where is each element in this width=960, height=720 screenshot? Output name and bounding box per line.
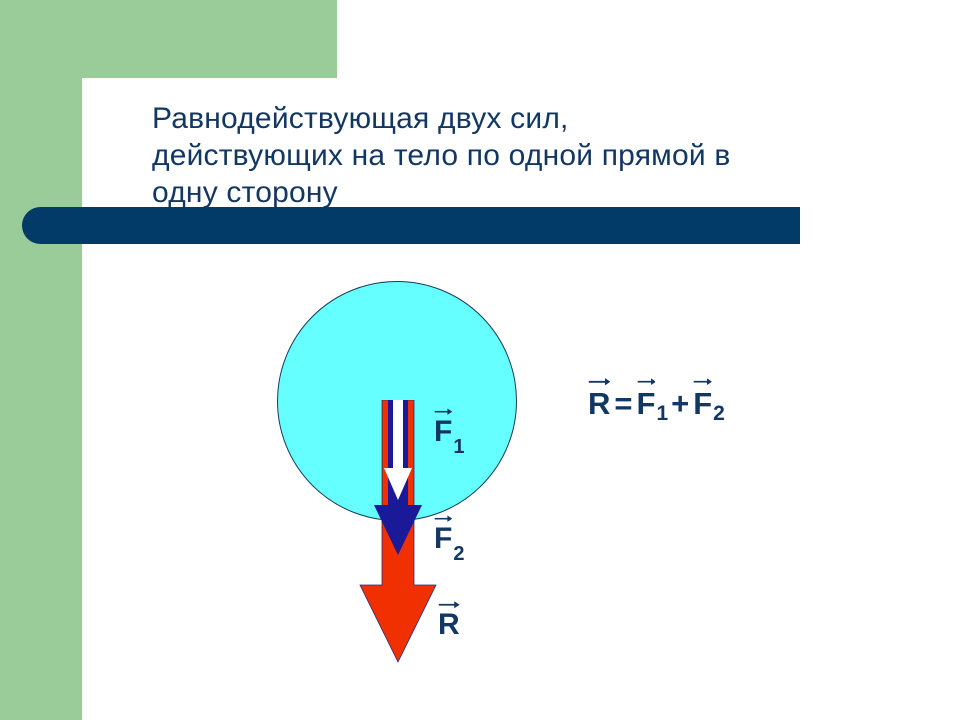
formula-f2-letter: F bbox=[693, 388, 712, 419]
label-force-2-text: F bbox=[434, 522, 452, 555]
green-top-block bbox=[82, 0, 337, 78]
vector-arrow-icon bbox=[434, 405, 452, 417]
formula-resultant: R = F 1+ F 2 bbox=[588, 388, 724, 419]
formula-equals: = bbox=[610, 386, 636, 421]
label-force-1-sub: 1 bbox=[453, 436, 464, 458]
label-force-1-letter: F bbox=[434, 417, 452, 447]
formula-f1-text: F bbox=[637, 386, 656, 421]
label-force-2-sub: 2 bbox=[453, 543, 464, 565]
green-side-panel bbox=[0, 0, 82, 720]
formula-f1-sub: 1 bbox=[656, 402, 668, 425]
force-arrows-group bbox=[352, 400, 444, 668]
formula-f1-letter: F bbox=[637, 388, 656, 419]
formula-plus: + bbox=[667, 386, 693, 421]
accent-divider-bar bbox=[22, 207, 800, 244]
label-force-2-letter: F bbox=[434, 524, 452, 554]
vector-arrow-icon bbox=[693, 375, 712, 387]
label-force-1: F 1 bbox=[434, 417, 463, 452]
formula-r-text: R bbox=[588, 386, 610, 421]
label-resultant-text: R bbox=[438, 608, 460, 641]
slide-title: Равнодействующая двух сил, действующих н… bbox=[152, 100, 812, 211]
vector-arrow-icon bbox=[434, 512, 452, 524]
label-force-2: F 2 bbox=[434, 524, 463, 559]
formula-r-letter: R bbox=[588, 388, 610, 419]
vector-arrow-icon bbox=[588, 375, 610, 387]
formula-f2-text: F bbox=[693, 386, 712, 421]
formula-f2-sub: 2 bbox=[713, 402, 725, 425]
label-resultant: R bbox=[438, 610, 460, 645]
vector-arrow-icon bbox=[438, 598, 460, 610]
slide-canvas: Равнодействующая двух сил, действующих н… bbox=[0, 0, 960, 720]
label-force-1-text: F bbox=[434, 415, 452, 448]
vector-arrow-icon bbox=[637, 375, 656, 387]
label-resultant-letter: R bbox=[438, 610, 460, 640]
